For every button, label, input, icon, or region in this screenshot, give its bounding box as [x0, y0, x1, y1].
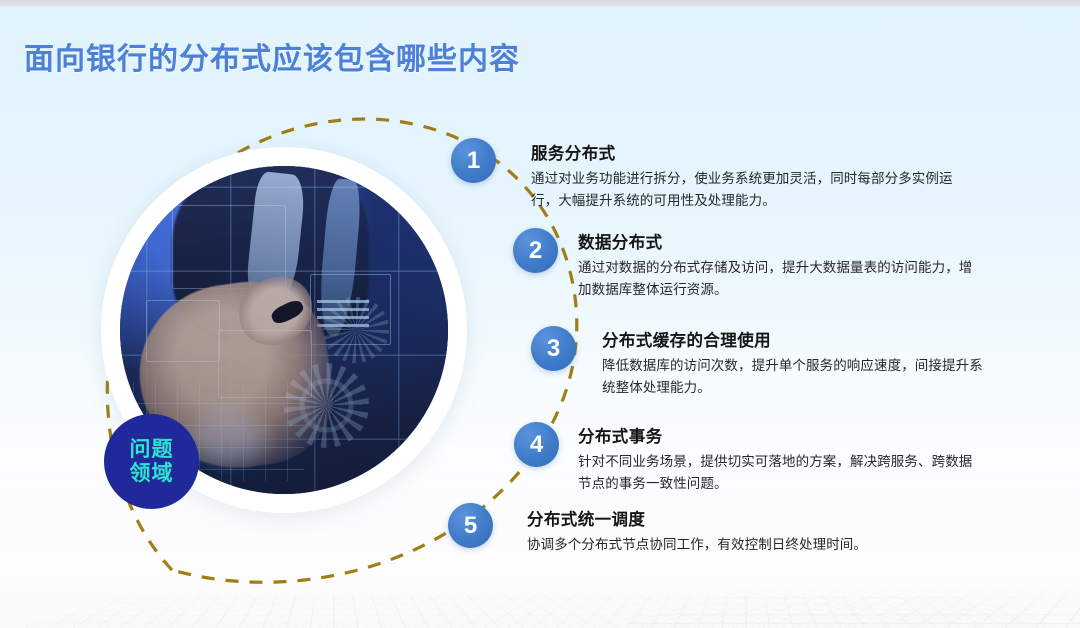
page-title: 面向银行的分布式应该包含哪些内容: [24, 34, 520, 78]
item-number-badge: 3: [531, 326, 576, 371]
item-body: 降低数据库的访问次数，提升单个服务的响应速度，间接提升系统整体处理能力。: [602, 355, 994, 399]
item-text: 分布式事务 针对不同业务场景，提供切实可落地的方案，解决跨服务、跨数据节点的事务…: [578, 423, 978, 495]
item-body: 通过对数据的分布式存储及访问，提升大数据量表的访问能力，增加数据库整体运行资源。: [578, 257, 978, 301]
item-number-badge: 2: [513, 228, 558, 273]
item-number-badge: 1: [451, 138, 496, 183]
item-heading: 数据分布式: [578, 229, 978, 253]
item-heading: 服务分布式: [531, 140, 961, 164]
badge-label-line1: 问题: [130, 438, 174, 461]
badge-label-line2: 领域: [130, 462, 174, 485]
item-text: 分布式缓存的合理使用 降低数据库的访问次数，提升单个服务的响应速度，间接提升系统…: [602, 327, 994, 399]
item-body: 通过对业务功能进行拆分，使业务系统更加灵活，同时每部分多实例运行，大幅提升系统的…: [531, 168, 961, 212]
item-heading: 分布式统一调度: [527, 506, 957, 530]
slide-canvas: 面向银行的分布式应该包含哪些内容 问题 领域: [0, 0, 1080, 628]
item-text: 数据分布式 通过对数据的分布式存储及访问，提升大数据量表的访问能力，增加数据库整…: [578, 229, 978, 301]
item-text: 分布式统一调度 协调多个分布式节点协同工作，有效控制日终处理时间。: [527, 506, 957, 556]
item-heading: 分布式缓存的合理使用: [602, 327, 994, 351]
item-number-badge: 4: [514, 422, 559, 467]
problem-domain-badge: 问题 领域: [104, 414, 199, 509]
item-number-badge: 5: [448, 503, 493, 548]
item-body: 协调多个分布式节点协同工作，有效控制日终处理时间。: [527, 534, 957, 556]
top-strip: [0, 0, 1080, 7]
item-body: 针对不同业务场景，提供切实可落地的方案，解决跨服务、跨数据节点的事务一致性问题。: [578, 451, 978, 495]
item-text: 服务分布式 通过对业务功能进行拆分，使业务系统更加灵活，同时每部分多实例运行，大…: [531, 140, 961, 212]
item-heading: 分布式事务: [578, 423, 978, 447]
